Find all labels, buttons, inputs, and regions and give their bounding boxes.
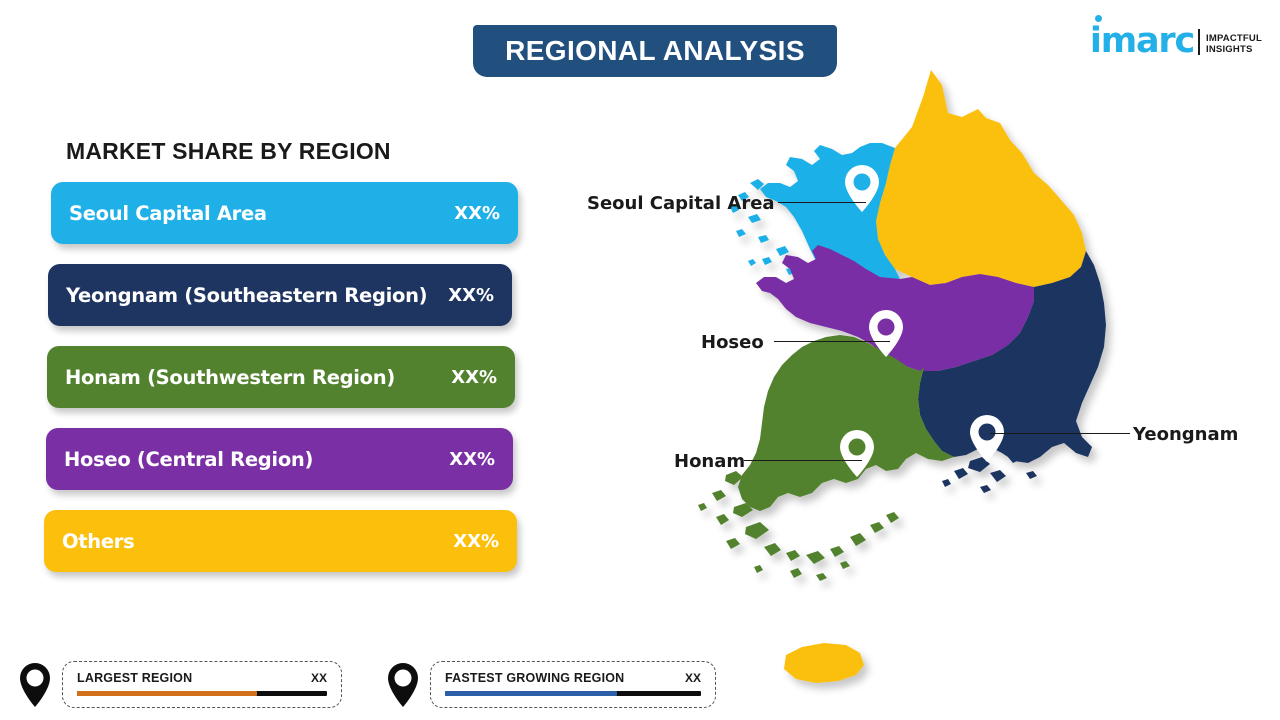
legend-item-fastest-growing-region: FASTEST GROWING REGION XX — [386, 661, 716, 708]
bar-row-others[interactable]: Others XX% — [44, 510, 517, 572]
bar-value: XX% — [449, 449, 495, 470]
logo-tagline-line2: INSIGHTS — [1206, 44, 1262, 55]
legend-value: XX — [685, 671, 701, 685]
legend-progress-track — [77, 691, 327, 696]
bar-label: Yeongnam (Southeastern Region) — [66, 284, 427, 307]
map-callout-honam: Honam — [674, 451, 745, 472]
legend-progress-fill — [77, 691, 257, 696]
legend-card-fastest: FASTEST GROWING REGION XX — [430, 661, 716, 708]
legend-title: LARGEST REGION — [77, 671, 192, 685]
legend-progress-track — [445, 691, 701, 696]
map-callout-yeongnam: Yeongnam — [1133, 424, 1238, 445]
map-region-others[interactable] — [876, 70, 1086, 287]
imarc-logo: imarc IMPACTFUL INSIGHTS — [1090, 14, 1262, 58]
leader-line-seoul-capital-area — [778, 202, 866, 203]
legend-title: FASTEST GROWING REGION — [445, 671, 624, 685]
bar-value: XX% — [454, 203, 500, 224]
map-region-jeju[interactable] — [784, 643, 864, 683]
logo-tagline-line1: IMPACTFUL — [1206, 33, 1262, 44]
market-share-heading: MARKET SHARE BY REGION — [66, 138, 391, 165]
leader-line-honam — [744, 460, 862, 461]
logo-dot-icon — [1095, 15, 1102, 22]
bar-label: Honam (Southwestern Region) — [65, 366, 395, 389]
legend-progress-fill — [445, 691, 617, 696]
korea-region-map: Seoul Capital Area Hoseo Honam Yeongnam — [690, 55, 1280, 705]
map-pin-icon — [386, 662, 420, 708]
map-pin-icon — [18, 662, 52, 708]
bar-row-hoseo[interactable]: Hoseo (Central Region) XX% — [46, 428, 513, 490]
bar-value: XX% — [448, 285, 494, 306]
leader-line-hoseo — [774, 341, 890, 342]
bar-value: XX% — [453, 531, 499, 552]
slide-canvas: REGIONAL ANALYSIS imarc IMPACTFUL INSIGH… — [0, 0, 1280, 720]
bar-label: Others — [62, 530, 134, 553]
map-svg — [690, 55, 1280, 705]
bar-row-seoul-capital-area[interactable]: Seoul Capital Area XX% — [51, 182, 518, 244]
map-callout-seoul-capital-area: Seoul Capital Area — [587, 193, 775, 214]
logo-divider — [1198, 29, 1200, 55]
bottom-legend: LARGEST REGION XX FASTEST GROWING REGION… — [18, 661, 716, 708]
logo-wordmark: imarc — [1090, 24, 1194, 58]
legend-value: XX — [311, 671, 327, 685]
map-pin-yeongnam[interactable] — [970, 415, 1004, 462]
bar-row-honam[interactable]: Honam (Southwestern Region) XX% — [47, 346, 515, 408]
map-callout-hoseo: Hoseo — [701, 332, 764, 353]
bar-label: Seoul Capital Area — [69, 202, 267, 225]
leader-line-yeongnam — [990, 433, 1130, 434]
bar-row-yeongnam[interactable]: Yeongnam (Southeastern Region) XX% — [48, 264, 512, 326]
market-share-bar-list: Seoul Capital Area XX% Yeongnam (Southea… — [0, 182, 540, 592]
logo-tagline: IMPACTFUL INSIGHTS — [1206, 33, 1262, 55]
legend-item-largest-region: LARGEST REGION XX — [18, 661, 342, 708]
legend-card-largest: LARGEST REGION XX — [62, 661, 342, 708]
bar-label: Hoseo (Central Region) — [64, 448, 313, 471]
bar-value: XX% — [451, 367, 497, 388]
